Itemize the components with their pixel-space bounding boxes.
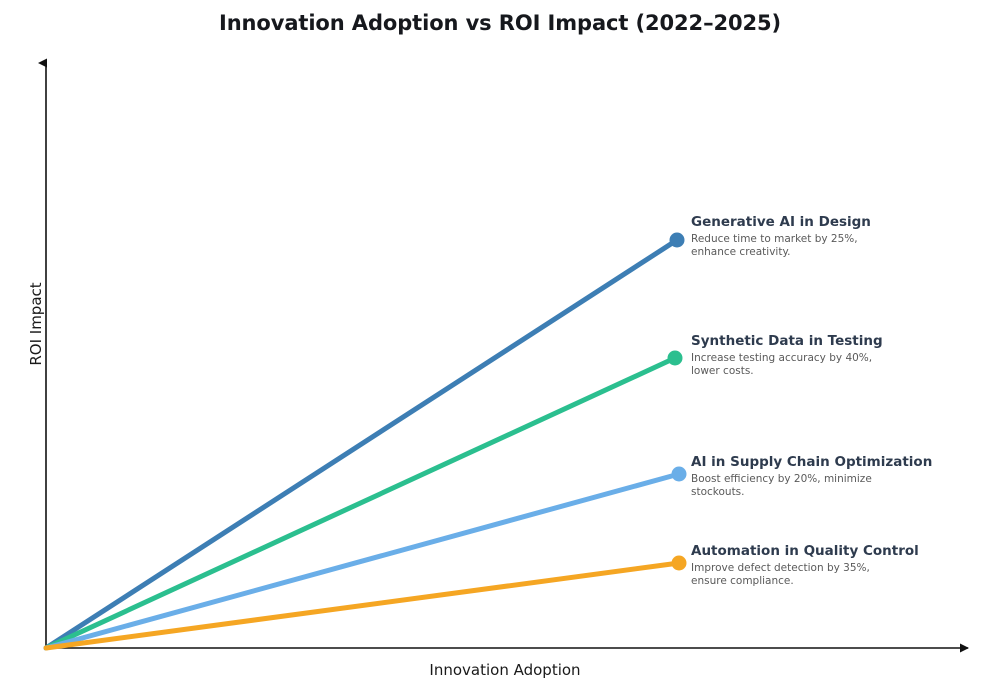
annotation-ai-in-supply-chain-optimization: AI in Supply Chain Optimization Boost ef… bbox=[691, 455, 991, 500]
annotation-title: AI in Supply Chain Optimization bbox=[691, 455, 991, 471]
annotation-title: Automation in Quality Control bbox=[691, 544, 991, 560]
annotation-synthetic-data-in-testing: Synthetic Data in Testing Increase testi… bbox=[691, 334, 991, 379]
annotation-description-line2: enhance creativity. bbox=[691, 246, 791, 258]
annotation-generative-ai-in-design: Generative AI in Design Reduce time to m… bbox=[691, 215, 991, 260]
series-endpoint-marker bbox=[670, 233, 685, 248]
annotation-description-line1: Reduce time to market by 25%, bbox=[691, 233, 858, 245]
annotation-description-line2: lower costs. bbox=[691, 365, 754, 377]
annotation-description: Improve defect detection by 35%, ensure … bbox=[691, 562, 906, 590]
chart-canvas: Innovation Adoption vs ROI Impact (2022–… bbox=[0, 0, 1000, 700]
annotation-description: Reduce time to market by 25%, enhance cr… bbox=[691, 233, 906, 261]
annotation-description: Boost efficiency by 20%, minimize stocko… bbox=[691, 473, 906, 501]
annotation-description: Increase testing accuracy by 40%, lower … bbox=[691, 352, 906, 380]
annotation-title: Generative AI in Design bbox=[691, 215, 991, 231]
annotation-description-line1: Increase testing accuracy by 40%, bbox=[691, 352, 872, 364]
series-endpoint-marker bbox=[668, 351, 683, 366]
annotation-description-line2: stockouts. bbox=[691, 486, 745, 498]
annotation-automation-in-quality-control: Automation in Quality Control Improve de… bbox=[691, 544, 991, 589]
annotation-description-line1: Improve defect detection by 35%, bbox=[691, 562, 870, 574]
x-axis-label: Innovation Adoption bbox=[345, 661, 665, 679]
annotation-description-line2: ensure compliance. bbox=[691, 575, 794, 587]
annotation-description-line1: Boost efficiency by 20%, minimize bbox=[691, 473, 872, 485]
series-line-generative-ai-in-design bbox=[46, 233, 685, 649]
y-axis-label: ROI Impact bbox=[27, 264, 45, 384]
series-endpoint-marker bbox=[672, 556, 687, 571]
annotation-title: Synthetic Data in Testing bbox=[691, 334, 991, 350]
series-line-ai-in-supply-chain-optimization bbox=[46, 467, 687, 649]
series-endpoint-marker bbox=[672, 467, 687, 482]
